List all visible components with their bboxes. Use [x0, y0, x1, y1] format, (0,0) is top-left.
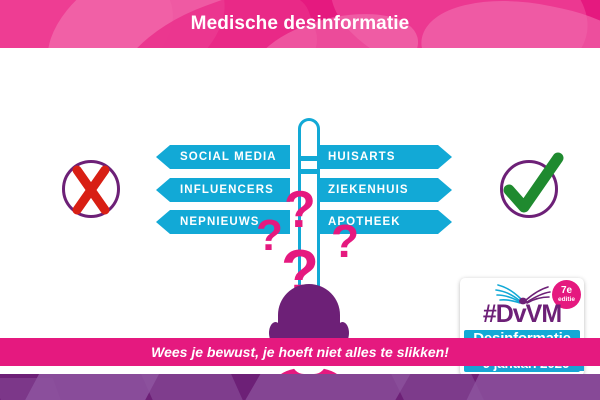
sign-right-label: HUISARTS	[328, 151, 396, 163]
logo-wordmark: #DvVM	[460, 302, 584, 327]
sign-right-1[interactable]: ZIEKENHUIS	[318, 178, 452, 202]
sign-left-label: SOCIAL MEDIA	[180, 151, 277, 163]
sign-right-label: ZIEKENHUIS	[328, 184, 409, 196]
question-mark-icon: ?	[256, 214, 283, 258]
question-mark-icon: ?	[331, 218, 359, 264]
content-card: SOCIAL MEDIA INFLUENCERS NEPNIEUWS HUISA…	[8, 52, 592, 334]
edition-badge-number: 7e	[561, 286, 572, 296]
question-mark-icon: ?	[284, 184, 316, 236]
footer-swirl-decoration	[137, 374, 254, 400]
page-title: Medische desinformatie	[0, 0, 600, 48]
tagline-banner: Wees je bewust, je hoeft niet alles te s…	[0, 338, 600, 366]
sign-right-0[interactable]: HUISARTS	[318, 145, 452, 169]
sign-left-0[interactable]: SOCIAL MEDIA	[156, 145, 290, 169]
poster-root: Medische desinformatie	[0, 0, 600, 400]
sign-left-1[interactable]: INFLUENCERS	[156, 178, 290, 202]
header-banner: Medische desinformatie	[0, 0, 600, 48]
sign-left-label: NEPNIEUWS	[180, 216, 260, 228]
sign-left-label: INFLUENCERS	[180, 184, 274, 196]
tagline-text: Wees je bewust, je hoeft niet alles te s…	[151, 344, 449, 360]
footer-bar	[0, 374, 600, 400]
